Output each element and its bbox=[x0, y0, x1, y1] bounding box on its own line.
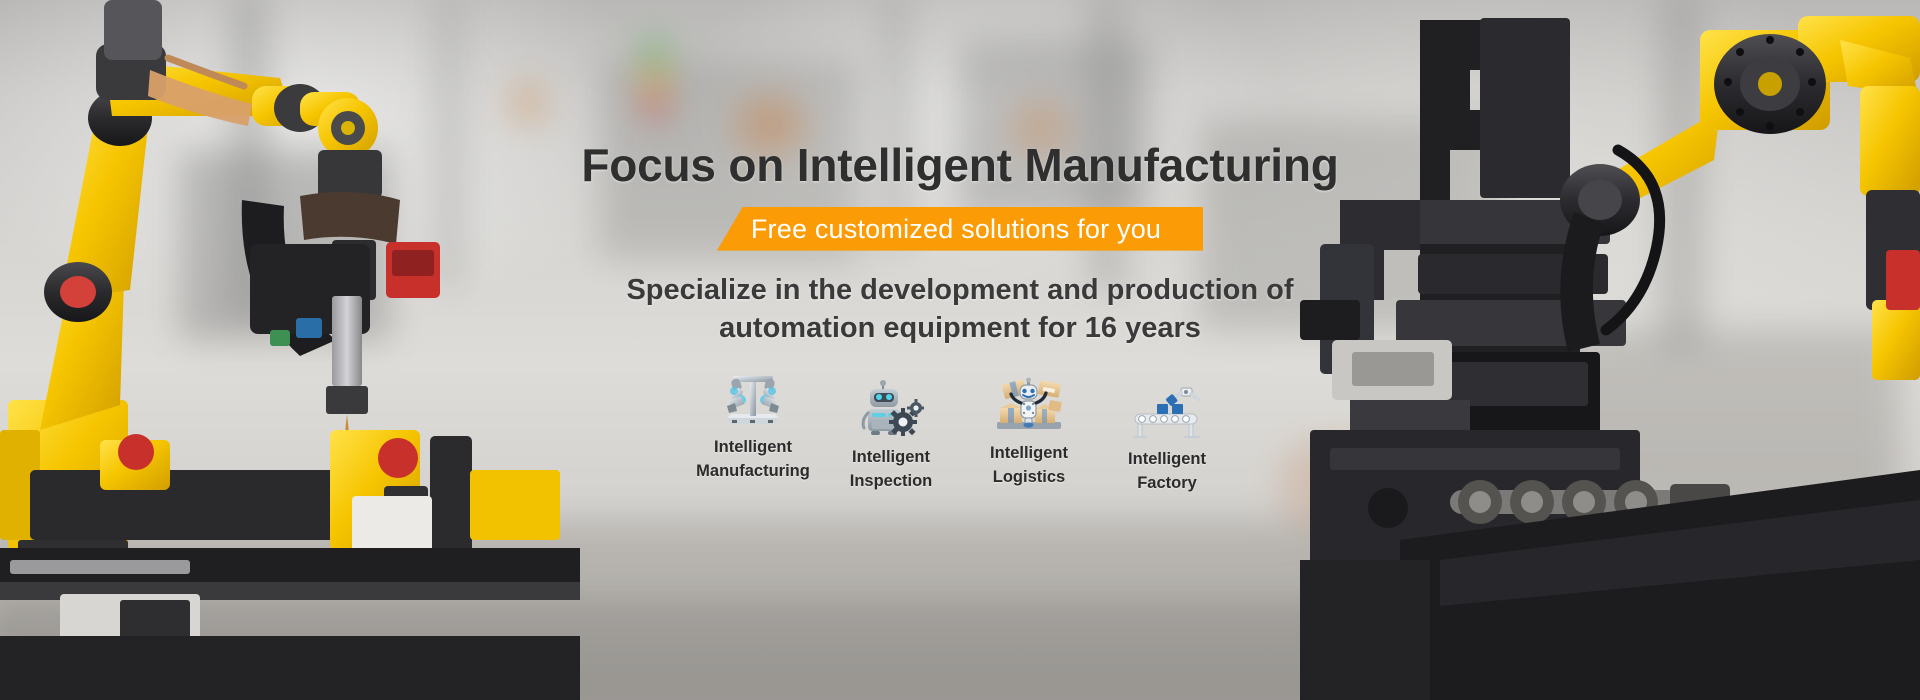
hero-banner: Focus on Intelligent Manufacturing Free … bbox=[0, 0, 1920, 700]
promo-ribbon[interactable]: Free customized solutions for you bbox=[717, 207, 1203, 251]
feature-label: Intelligent Manufacturing bbox=[696, 435, 810, 485]
page-title: Focus on Intelligent Manufacturing bbox=[0, 140, 1920, 191]
feature-item-intelligent-inspection[interactable]: Intelligent Inspection bbox=[831, 380, 951, 495]
feature-label: Intelligent Logistics bbox=[990, 441, 1068, 491]
feature-list: Intelligent Manufacturing bbox=[0, 370, 1920, 497]
subtitle-line-2: automation equipment for 16 years bbox=[0, 309, 1920, 348]
feature-item-intelligent-manufacturing[interactable]: Intelligent Manufacturing bbox=[693, 370, 813, 485]
ribbon-container: Free customized solutions for you bbox=[0, 207, 1920, 251]
robot-carrying-boxes-icon bbox=[991, 376, 1067, 432]
subtitle-line-1: Specialize in the development and produc… bbox=[0, 271, 1920, 310]
feature-label: Intelligent Inspection bbox=[850, 445, 933, 495]
feature-item-intelligent-logistics[interactable]: Intelligent Logistics bbox=[969, 376, 1089, 491]
banner-content: Focus on Intelligent Manufacturing Free … bbox=[0, 140, 1920, 496]
feature-item-intelligent-factory[interactable]: Intelligent Factory bbox=[1107, 382, 1227, 497]
conveyor-robot-arm-icon bbox=[1129, 382, 1205, 438]
feature-label: Intelligent Factory bbox=[1128, 447, 1206, 497]
subtitle: Specialize in the development and produc… bbox=[0, 271, 1920, 348]
robot-with-gears-icon bbox=[853, 380, 929, 436]
dual-robot-arm-cell-icon bbox=[715, 370, 791, 426]
